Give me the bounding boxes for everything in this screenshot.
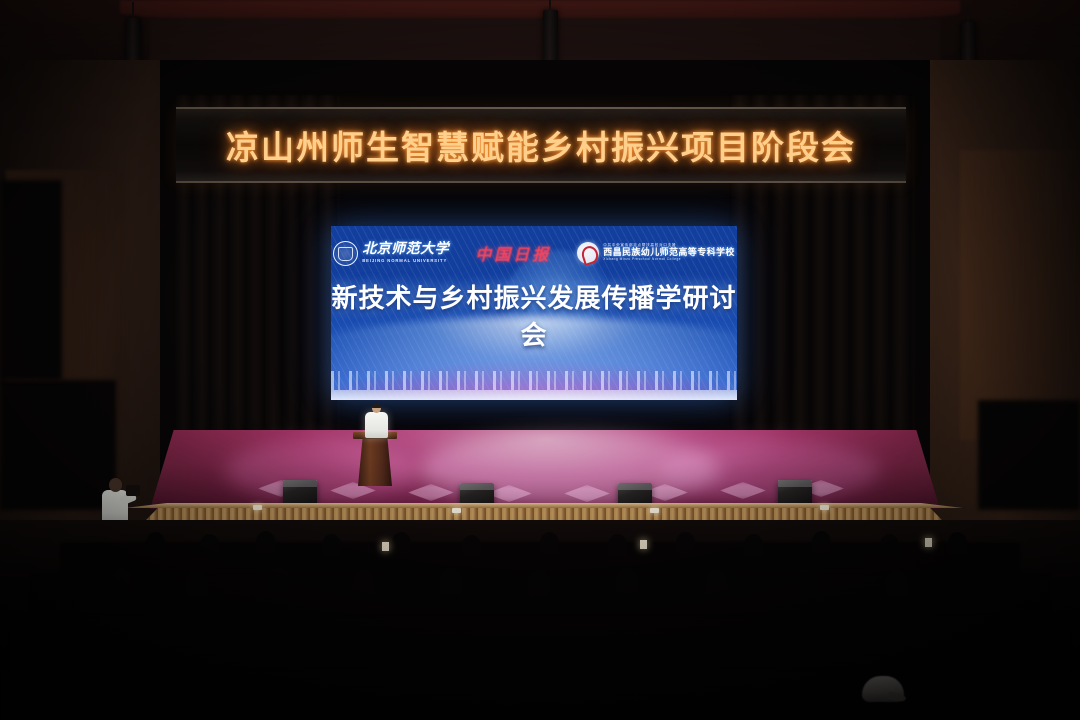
speaker-at-podium [363,404,389,438]
bnu-name-en: BEIJING NORMAL UNIVERSITY [362,259,449,263]
audience-seat-row [0,670,1080,720]
wall-recess-right [978,400,1080,510]
screen-logo-row: 北京师范大学 BEIJING NORMAL UNIVERSITY 中国日报 中共… [331,232,737,274]
audience-head [886,570,908,596]
screen-bottom-glow [331,390,737,400]
screen-decorative-border [331,371,737,390]
wooden-podium [358,436,392,486]
audience-head [744,534,763,556]
audience-head [706,570,728,596]
floor-monitor-speaker [283,480,317,506]
led-header-banner: 凉山州师生智慧赋能乡村振兴项目阶段会 [176,107,906,183]
cameraman-head [109,478,122,492]
stage-edge-light [650,508,659,513]
stage-light-pool-right [660,440,880,502]
audience-head [440,568,462,594]
audience-head [462,535,481,557]
audience-head [948,532,967,554]
audience-head [812,531,831,553]
stage-edge-light [820,505,829,510]
audience-head [352,570,374,596]
video-camera-icon [126,485,140,496]
audience-head [540,532,559,554]
auditorium-stage-photo: 凉山州师生智慧赋能乡村振兴项目阶段会 北京师范大学 BEIJING NORMAL… [0,0,1080,720]
bnu-seal-icon [333,241,358,266]
audience-head [268,567,290,593]
stage-edge-light [452,508,461,513]
audience-head [256,531,275,553]
audience-head [146,532,165,554]
audience-white-cap [862,676,904,702]
audience-head [392,532,411,554]
audience-head [796,568,818,594]
aisle-light [382,542,389,551]
xichang-seal-icon [577,242,599,264]
led-banner-text: 凉山州师生智慧赋能乡村振兴项目阶段会 [226,121,856,169]
audience-head [608,534,627,556]
floor-monitor-speaker [778,480,812,506]
audience-head [676,532,695,554]
logo-red-calligraphy: 中国日报 [475,241,551,265]
speaker-hair [372,404,381,408]
wall-recess-upper-left [0,180,62,380]
audience-head [322,534,341,556]
stage-edge-light [253,505,262,510]
main-led-screen: 北京师范大学 BEIJING NORMAL UNIVERSITY 中国日报 中共… [331,226,737,400]
audience-head [186,570,208,596]
audience-head [880,534,899,556]
screen-main-title: 新技术与乡村振兴发展传播学研讨会 [331,278,737,352]
logo-xichang-college: 中共中央宣传部定点帮扶高校对口支援 西昌民族幼儿师范高等专科学校 Xichang… [577,242,735,264]
aisle-light [640,540,647,549]
audience-seat-row [10,616,1070,676]
bnu-name-cn: 北京师范大学 [362,243,449,257]
logo-beijing-normal-university: 北京师范大学 BEIJING NORMAL UNIVERSITY [333,241,449,266]
audience-head [200,534,219,556]
wall-panel-right [960,150,1080,440]
aisle-light [925,538,932,547]
audience-head [616,567,638,593]
stage-apron-top-lip [125,503,963,508]
xichang-name-en: Xichang Minzu Preschool Normal College [603,258,735,262]
audience-head [528,570,550,596]
speaker-body [365,412,388,438]
audience-head [110,568,132,594]
seated-audience-silhouettes [0,520,1080,720]
